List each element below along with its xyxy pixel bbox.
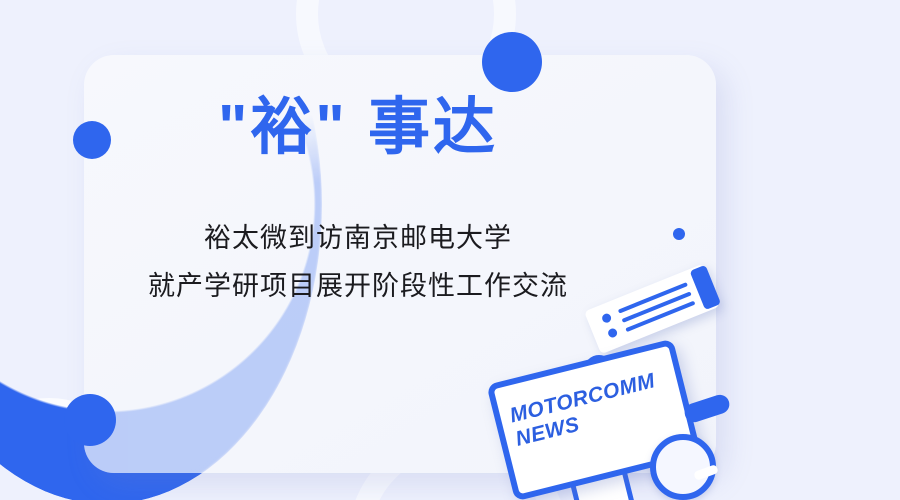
magnifier-handle-cap <box>682 392 732 424</box>
subtitle: 裕太微到访南京邮电大学 就产学研项目展开阶段性工作交流 <box>0 214 716 310</box>
blue-dot-top-icon <box>482 32 542 92</box>
megaphone-icon: MOTORCOMM NEWS <box>498 360 718 500</box>
subtitle-line-1: 裕太微到访南京邮电大学 <box>0 214 716 262</box>
blue-dot-bottom-left-icon <box>64 394 116 446</box>
news-banner: "裕" 事达 裕太微到访南京邮电大学 就产学研项目展开阶段性工作交流 MOTOR… <box>0 0 900 500</box>
page-title: "裕" 事达 <box>0 97 716 159</box>
